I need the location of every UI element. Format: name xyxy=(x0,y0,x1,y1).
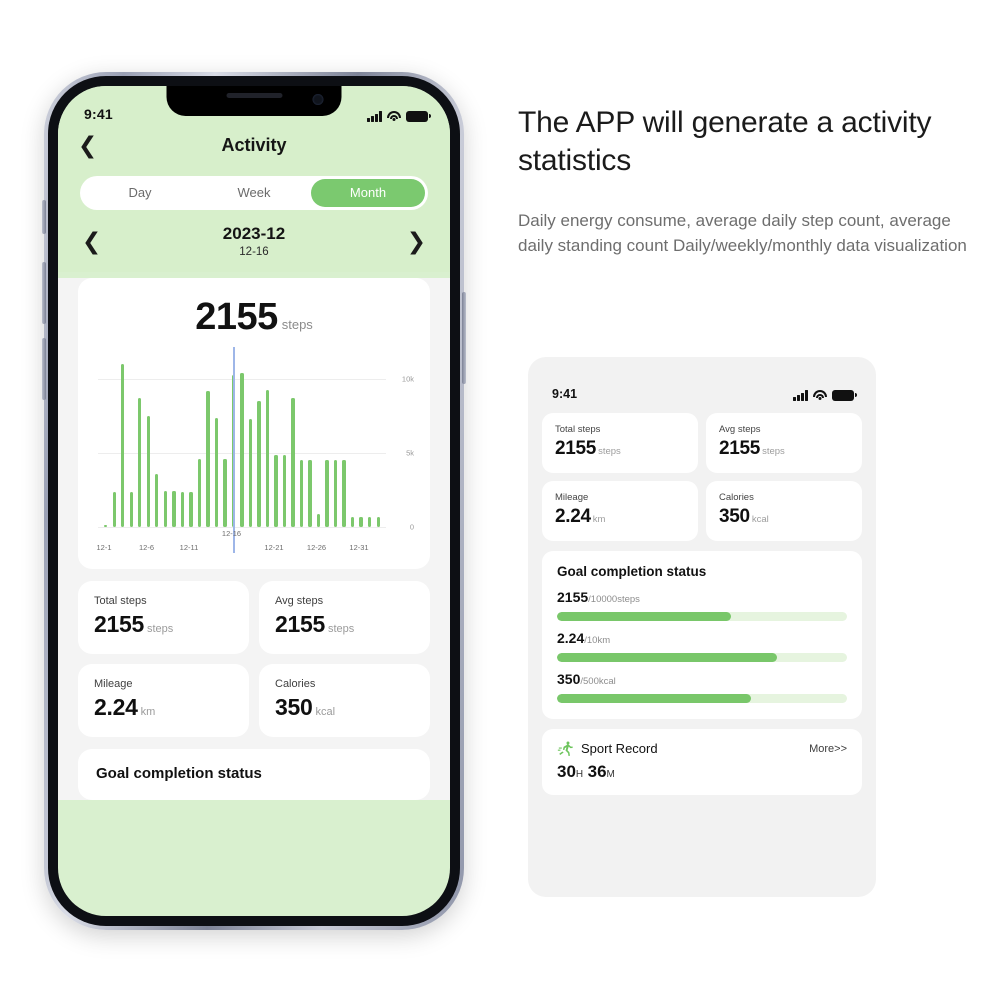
steps-chart-card: 2155steps 05k10k 12-112-612-1112-1612-21… xyxy=(78,278,430,569)
earpiece-speaker-icon xyxy=(226,93,282,98)
panel-goal-list: 2155/10000steps2.24/10km350/500kcal xyxy=(557,589,847,703)
chart-bar xyxy=(206,391,209,527)
subcopy: Daily energy consume, average daily step… xyxy=(518,208,978,260)
goal-card-title: Goal completion status xyxy=(96,765,412,782)
panel-status-icons xyxy=(793,390,854,401)
panel-goal-title: Goal completion status xyxy=(557,564,847,579)
sport-minutes: 36 xyxy=(588,762,607,781)
chart-bar xyxy=(283,455,286,527)
chart-bar xyxy=(147,416,150,527)
chart-bar xyxy=(104,525,107,527)
panel-stat-label: Total steps xyxy=(555,424,685,435)
panel-stat-unit: kcal xyxy=(752,514,769,525)
stat-value: 2155 xyxy=(275,611,325,637)
chart-bar xyxy=(257,401,260,527)
panel-stat-value: 2155 xyxy=(719,438,760,459)
panel-stat-label: Avg steps xyxy=(719,424,849,435)
chart-bar xyxy=(215,418,218,527)
chart-bar xyxy=(300,460,303,527)
stat-card: Mileage2.24km xyxy=(78,664,249,737)
panel-stat-value: 2155 xyxy=(555,438,596,459)
sport-record-card[interactable]: Sport Record More>> 30H 36M xyxy=(542,729,862,795)
battery-icon xyxy=(406,111,428,122)
stat-card: Calories350kcal xyxy=(259,664,430,737)
panel-stat-card: Calories350kcal xyxy=(706,481,862,541)
status-icons xyxy=(367,111,428,122)
sport-record-duration: 30H 36M xyxy=(557,762,847,782)
panel-stat-value: 350 xyxy=(719,506,750,527)
chart-bar xyxy=(368,517,371,527)
goal-progress-text: 2155/10000steps xyxy=(557,589,847,607)
sport-hours: 30 xyxy=(557,762,576,781)
chart-gridline xyxy=(98,527,386,528)
panel-stat-unit: steps xyxy=(598,446,621,457)
goal-target-value: /10km xyxy=(584,635,610,646)
chart-selected-day-marker xyxy=(233,347,235,553)
chart-bar xyxy=(377,517,380,527)
goal-target-value: /10000steps xyxy=(588,594,640,605)
goal-progress-track xyxy=(557,612,847,621)
stat-value: 2.24 xyxy=(94,694,138,720)
cellular-bars-icon xyxy=(367,111,382,122)
steps-bar-chart: 05k10k xyxy=(98,357,414,527)
stat-label: Avg steps xyxy=(275,595,414,607)
page-title: Activity xyxy=(58,135,450,156)
panel-stat-card: Total steps2155steps xyxy=(542,413,698,473)
chart-bar xyxy=(266,390,269,527)
panel-stat-unit: km xyxy=(593,514,606,525)
chart-bar xyxy=(359,517,362,527)
period-selector: ❮ 2023-12 12-16 ❯ xyxy=(58,210,450,258)
chart-bar xyxy=(334,460,337,527)
steps-summary: 2155steps xyxy=(84,296,424,339)
phone-mockup: 9:41 ❮ Activity Day Week Month xyxy=(44,72,464,930)
goal-target-value: /500kcal xyxy=(580,676,615,687)
tab-day[interactable]: Day xyxy=(83,179,197,207)
goal-current-value: 350 xyxy=(557,671,580,687)
silent-switch[interactable] xyxy=(42,200,46,234)
next-month-button[interactable]: ❯ xyxy=(407,230,426,253)
wifi-icon xyxy=(387,111,401,122)
chart-bar xyxy=(130,492,133,527)
chart-x-tick-label: 12-6 xyxy=(139,543,154,552)
goal-progress-row: 2155/10000steps xyxy=(557,589,847,621)
stat-value: 350 xyxy=(275,694,312,720)
chart-x-tick-label: 12-16 xyxy=(222,529,241,538)
goal-progress-fill xyxy=(557,694,751,703)
steps-summary-value: 2155 xyxy=(195,296,278,338)
volume-down-button[interactable] xyxy=(42,338,46,400)
cellular-bars-icon xyxy=(793,390,808,401)
chart-bar xyxy=(113,492,116,527)
stat-unit: steps xyxy=(328,623,354,635)
panel-stat-value-group: 2155steps xyxy=(719,438,849,460)
headline: The APP will generate a activity statist… xyxy=(518,104,978,180)
stat-unit: km xyxy=(141,706,156,718)
chart-bar xyxy=(240,373,243,527)
stat-value-group: 2155steps xyxy=(275,611,414,638)
goal-current-value: 2.24 xyxy=(557,630,584,646)
chart-bar xyxy=(223,459,226,527)
chart-plot-area xyxy=(104,357,380,527)
stat-unit: steps xyxy=(147,623,173,635)
panel-stat-label: Calories xyxy=(719,492,849,503)
goal-progress-track xyxy=(557,694,847,703)
panel-status-time: 9:41 xyxy=(552,387,577,401)
volume-up-button[interactable] xyxy=(42,262,46,324)
chart-bar xyxy=(138,398,141,527)
stats-panel: 9:41 Total steps2155stepsAvg steps2155st… xyxy=(528,357,876,897)
stat-value-group: 2.24km xyxy=(94,694,233,721)
chart-bar xyxy=(351,517,354,527)
period-segmented-control[interactable]: Day Week Month xyxy=(80,176,428,210)
stat-card-grid: Total steps2155stepsAvg steps2155stepsMi… xyxy=(58,569,450,737)
goal-progress-row: 2.24/10km xyxy=(557,630,847,662)
chart-bar xyxy=(291,398,294,527)
goal-current-value: 2155 xyxy=(557,589,588,605)
chart-bar xyxy=(155,474,158,527)
front-camera-icon xyxy=(313,94,324,105)
page-root: 9:41 ❮ Activity Day Week Month xyxy=(0,0,1001,1001)
chart-x-tick-label: 12-26 xyxy=(307,543,326,552)
stat-value-group: 2155steps xyxy=(94,611,233,638)
chart-x-axis: 12-112-612-1112-1612-2112-2612-31 xyxy=(98,529,414,559)
sport-minutes-unit: M xyxy=(607,769,615,780)
panel-stat-label: Mileage xyxy=(555,492,685,503)
panel-stat-value-group: 2155steps xyxy=(555,438,685,460)
chart-y-tick-label: 5k xyxy=(406,449,414,458)
power-button[interactable] xyxy=(462,292,466,384)
chart-bar xyxy=(325,460,328,527)
sport-record-title-group: Sport Record xyxy=(557,740,658,757)
period-label-group: 2023-12 12-16 xyxy=(101,224,406,258)
wifi-icon xyxy=(813,390,827,401)
chart-bar xyxy=(164,491,167,527)
tab-month[interactable]: Month xyxy=(311,179,425,207)
chart-bar xyxy=(198,459,201,527)
chart-bar xyxy=(121,364,124,527)
stat-value: 2155 xyxy=(94,611,144,637)
panel-stat-value-group: 2.24km xyxy=(555,506,685,528)
sport-record-label: Sport Record xyxy=(581,741,658,756)
panel-stat-unit: steps xyxy=(762,446,785,457)
marketing-copy: The APP will generate a activity statist… xyxy=(518,104,978,259)
goal-progress-track xyxy=(557,653,847,662)
sport-record-header: Sport Record More>> xyxy=(557,740,847,757)
goal-progress-row: 350/500kcal xyxy=(557,671,847,703)
chart-x-tick-label: 12-31 xyxy=(349,543,368,552)
chart-bar xyxy=(249,419,252,527)
goal-progress-fill xyxy=(557,612,731,621)
goal-completion-card: Goal completion status xyxy=(78,749,430,800)
goal-progress-text: 350/500kcal xyxy=(557,671,847,689)
period-month: 2023-12 xyxy=(101,224,406,244)
steps-summary-unit: steps xyxy=(282,317,313,332)
nav-bar: ❮ Activity xyxy=(58,124,450,164)
panel-stat-value-group: 350kcal xyxy=(719,506,849,528)
battery-icon xyxy=(832,390,854,401)
tab-week[interactable]: Week xyxy=(197,179,311,207)
stat-unit: kcal xyxy=(315,706,335,718)
prev-month-button[interactable]: ❮ xyxy=(82,230,101,253)
stat-label: Mileage xyxy=(94,678,233,690)
stat-label: Calories xyxy=(275,678,414,690)
chart-bar xyxy=(317,514,320,527)
chart-bar xyxy=(181,492,184,527)
chart-bar xyxy=(172,491,175,527)
panel-stat-card: Mileage2.24km xyxy=(542,481,698,541)
panel-goal-card: Goal completion status 2155/10000steps2.… xyxy=(542,551,862,719)
stat-value-group: 350kcal xyxy=(275,694,414,721)
panel-stat-grid: Total steps2155stepsAvg steps2155stepsMi… xyxy=(542,413,862,541)
running-person-icon xyxy=(557,740,574,757)
panel-status-bar: 9:41 xyxy=(542,371,862,401)
notch xyxy=(167,86,342,116)
panel-stat-card: Avg steps2155steps xyxy=(706,413,862,473)
sport-record-more-link[interactable]: More>> xyxy=(809,743,847,755)
panel-stat-value: 2.24 xyxy=(555,506,591,527)
period-selected-day: 12-16 xyxy=(101,246,406,258)
back-button[interactable]: ❮ xyxy=(78,134,97,157)
chart-bar xyxy=(308,460,311,527)
chart-bar xyxy=(274,455,277,527)
status-time: 9:41 xyxy=(84,106,113,122)
stat-label: Total steps xyxy=(94,595,233,607)
chart-x-tick-label: 12-21 xyxy=(264,543,283,552)
screen-body: 2155steps 05k10k 12-112-612-1112-1612-21… xyxy=(58,278,450,800)
chart-y-tick-label: 10k xyxy=(402,375,414,384)
goal-progress-fill xyxy=(557,653,777,662)
chart-x-tick-label: 12-11 xyxy=(180,543,199,552)
chart-bar xyxy=(342,460,345,527)
chart-x-tick-label: 12-1 xyxy=(96,543,111,552)
stat-card: Total steps2155steps xyxy=(78,581,249,654)
sport-hours-unit: H xyxy=(576,769,583,780)
stat-card: Avg steps2155steps xyxy=(259,581,430,654)
phone-screen: 9:41 ❮ Activity Day Week Month xyxy=(58,86,450,916)
goal-progress-text: 2.24/10km xyxy=(557,630,847,648)
chart-bar xyxy=(189,492,192,527)
